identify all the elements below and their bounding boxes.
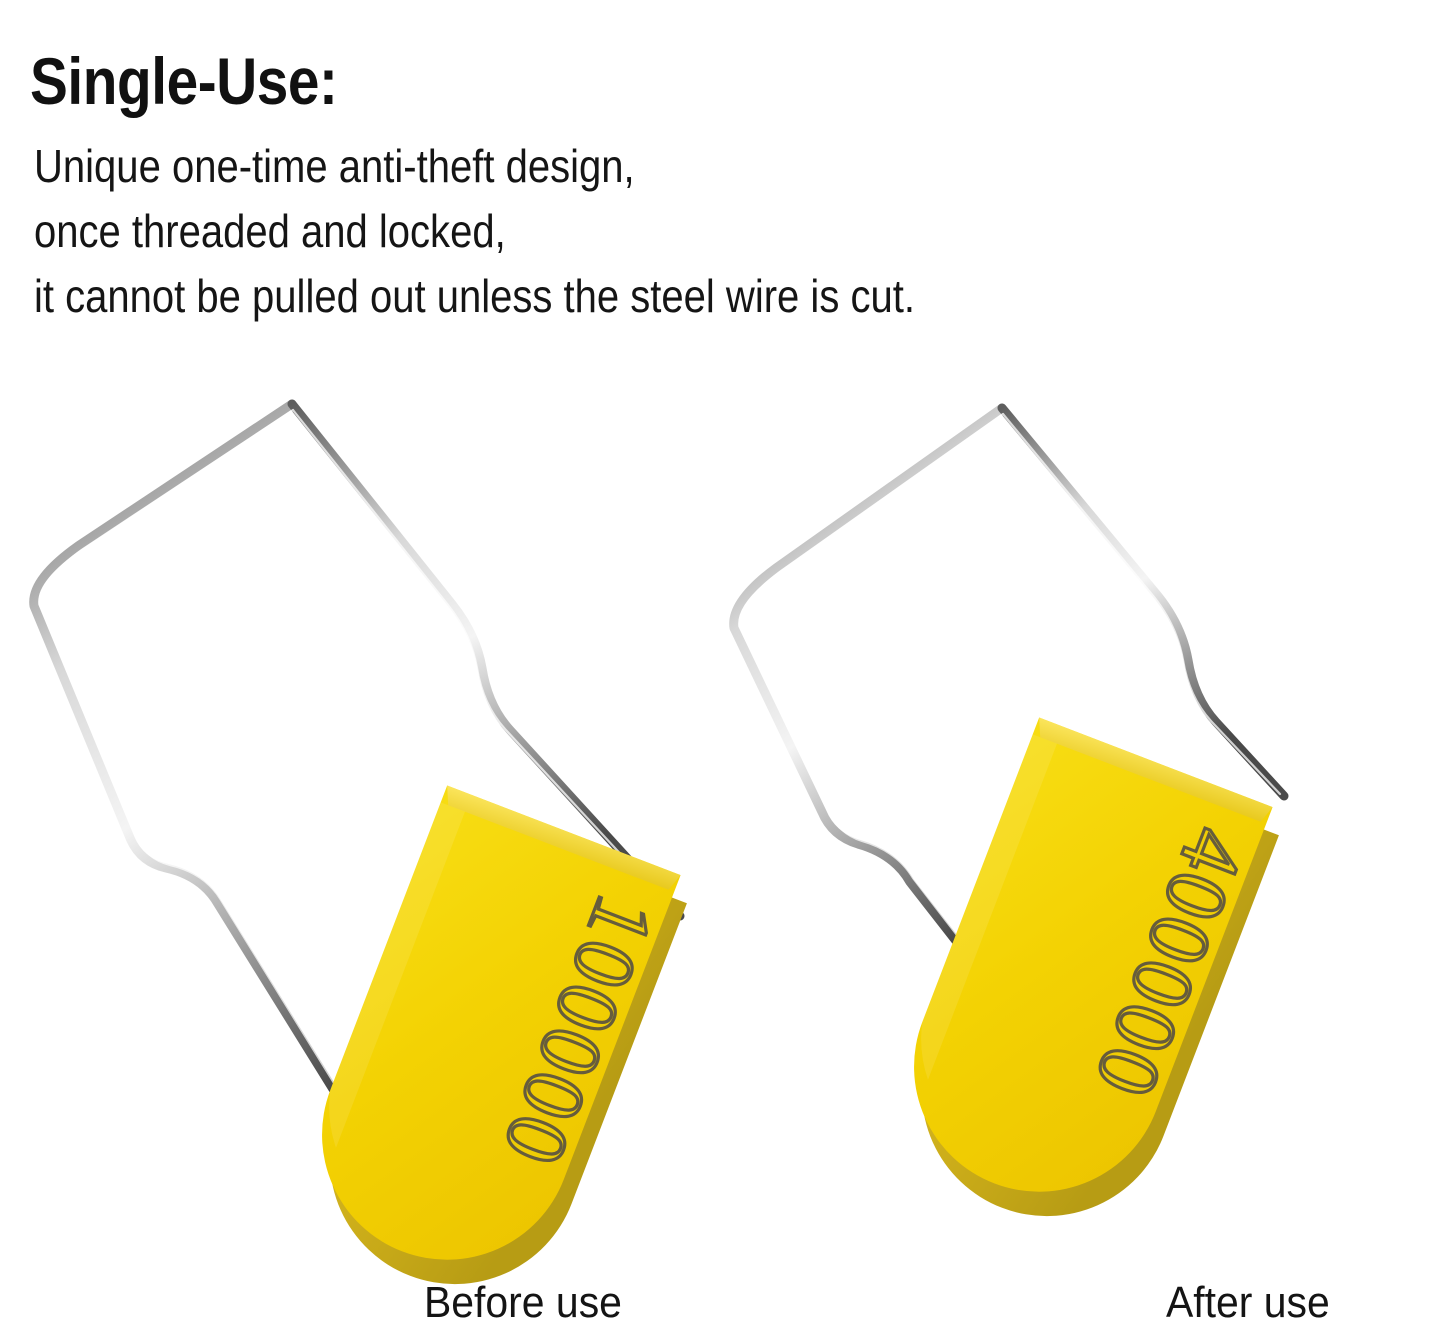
description-line-2: once threaded and locked, bbox=[34, 199, 915, 264]
description-text: Unique one-time anti-theft design, once … bbox=[34, 134, 915, 329]
security-seal-after-use: 400000 bbox=[672, 360, 1432, 1320]
security-seal-before-use: 100000 bbox=[0, 368, 750, 1328]
seal-tag-body: 100000 bbox=[278, 786, 695, 1321]
seal-tag-body: 400000 bbox=[870, 718, 1287, 1253]
page-title: Single-Use: bbox=[30, 46, 338, 117]
description-line-3: it cannot be pulled out unless the steel… bbox=[34, 264, 915, 329]
caption-before-use: Before use bbox=[424, 1278, 622, 1328]
description-line-1: Unique one-time anti-theft design, bbox=[34, 134, 915, 199]
caption-after-use: After use bbox=[1166, 1278, 1330, 1328]
